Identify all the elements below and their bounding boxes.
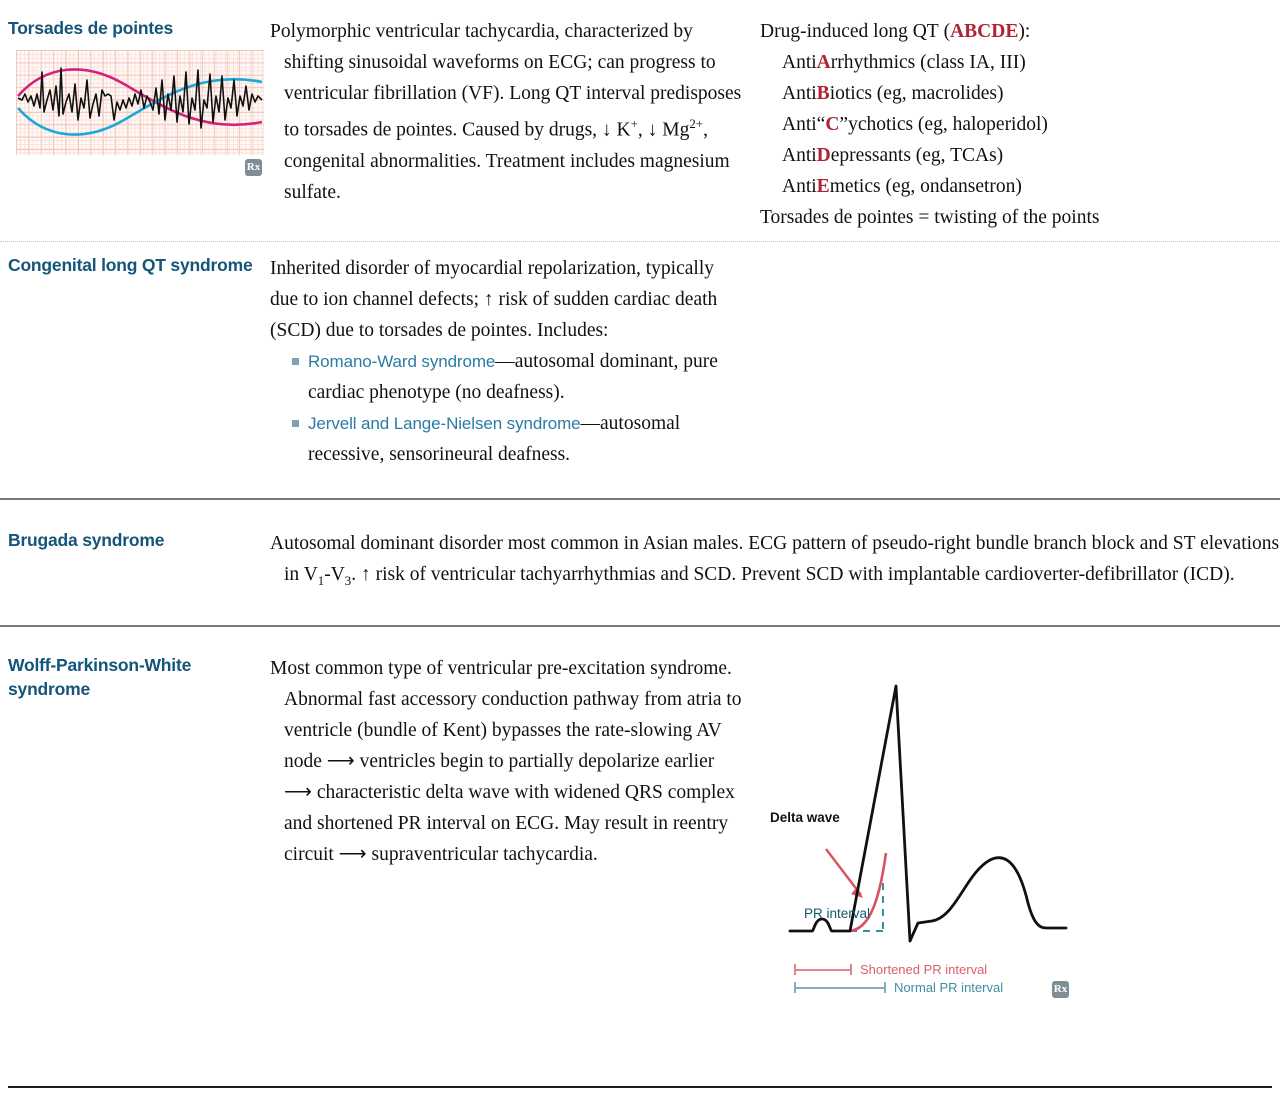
description-text: Inherited disorder of myocardial repolar… <box>270 253 746 346</box>
ecg-waveform-svg <box>16 50 264 155</box>
mnemonic-abcde: ABCDE <box>950 21 1018 42</box>
description-text: Autosomal dominant disorder most common … <box>270 528 1280 597</box>
bullet-term: Romano-Ward syndrome <box>308 352 495 371</box>
notes-torsades: Drug-induced long QT (ABCDE): AntiArrhyt… <box>760 16 1260 233</box>
legend-swatch-shortened <box>794 964 852 975</box>
square-bullet-icon <box>292 420 299 427</box>
description-torsades: Polymorphic ventricular tachycardia, cha… <box>270 16 760 208</box>
notes-wpw: Delta wave PR interval Shortened PR inte… <box>760 653 1260 983</box>
section-term-column: Brugada syndrome <box>0 528 270 552</box>
rx-icon: Rx <box>245 159 262 176</box>
term-wpw: Wolff-Parkinson-White syndrome <box>8 653 270 701</box>
divider-bottom <box>8 1086 1272 1088</box>
legend-label: Normal PR interval <box>894 980 1003 995</box>
textbook-page: Torsades de pointes Rx Polymo <box>0 0 1280 1114</box>
pr-interval-label: PR interval <box>804 906 870 921</box>
legend-label: Shortened PR interval <box>860 962 987 977</box>
section-wpw: Wolff-Parkinson-White syndrome Most comm… <box>0 627 1280 983</box>
section-term-column: Torsades de pointes Rx <box>0 16 270 155</box>
mnemonic-item-d: AntiDepressants (eg, TCAs) <box>760 140 1260 171</box>
rx-icon: Rx <box>1052 981 1069 998</box>
term-congenital-long-qt: Congenital long QT syndrome <box>8 253 270 277</box>
mnemonic-footer: Torsades de pointes = twisting of the po… <box>760 202 1260 233</box>
section-torsades: Torsades de pointes Rx Polymo <box>0 0 1280 233</box>
section-brugada: Brugada syndrome Autosomal dominant diso… <box>0 500 1280 597</box>
congenital-long-qt-subtypes: Romano-Ward syndrome—autosomal dominant,… <box>270 346 746 470</box>
delta-wave-arrow-line <box>826 849 861 895</box>
section-term-column: Congenital long QT syndrome <box>0 253 270 277</box>
list-item: Romano-Ward syndrome—autosomal dominant,… <box>292 346 746 408</box>
delta-wave-label: Delta wave <box>770 810 840 825</box>
mnemonic-item-a: AntiArrhythmics (class IA, III) <box>760 47 1260 78</box>
section-congenital-long-qt: Congenital long QT syndrome Inherited di… <box>0 242 1280 470</box>
legend-item-shortened-pr: Shortened PR interval <box>794 961 1090 979</box>
bullet-term: Jervell and Lange-Nielsen syndrome <box>308 414 581 433</box>
rx-badge-wpw[interactable]: Rx <box>1052 979 1069 998</box>
mnemonic-lead: Drug-induced long QT (ABCDE): <box>760 21 1030 42</box>
envelope-cyan <box>18 79 262 134</box>
description-wpw: Most common type of ventricular pre-exci… <box>270 653 760 870</box>
legend-item-normal-pr: Normal PR interval <box>794 979 1090 997</box>
mnemonic-item-e: AntiEmetics (eg, ondansetron) <box>760 171 1260 202</box>
term-torsades: Torsades de pointes <box>8 16 270 40</box>
description-brugada: Autosomal dominant disorder most common … <box>270 528 1280 597</box>
drug-induced-long-qt-list: Drug-induced long QT (ABCDE): AntiArrhyt… <box>760 16 1260 233</box>
mnemonic-item-b: AntiBiotics (eg, macrolides) <box>760 78 1260 109</box>
term-brugada: Brugada syndrome <box>8 528 270 552</box>
square-bullet-icon <box>292 358 299 365</box>
description-text: Polymorphic ventricular tachycardia, cha… <box>270 16 746 208</box>
wpw-legend: Shortened PR interval Normal PR interval… <box>794 961 1090 997</box>
mnemonic-item-c: Anti“C”ychotics (eg, haloperidol) <box>760 109 1260 140</box>
section-term-column: Wolff-Parkinson-White syndrome <box>0 653 270 701</box>
polymorphic-vt-trace <box>18 68 262 128</box>
legend-swatch-normal <box>794 982 886 993</box>
description-text: Most common type of ventricular pre-exci… <box>270 653 746 870</box>
list-item: Jervell and Lange-Nielsen syndrome—autos… <box>292 408 746 470</box>
torsades-ecg-thumbnail: Rx <box>16 50 264 155</box>
wpw-ecg-diagram: Delta wave PR interval Shortened PR inte… <box>760 653 1090 983</box>
rx-badge-torsades[interactable]: Rx <box>245 157 262 176</box>
description-congenital-long-qt: Inherited disorder of myocardial repolar… <box>270 253 760 470</box>
